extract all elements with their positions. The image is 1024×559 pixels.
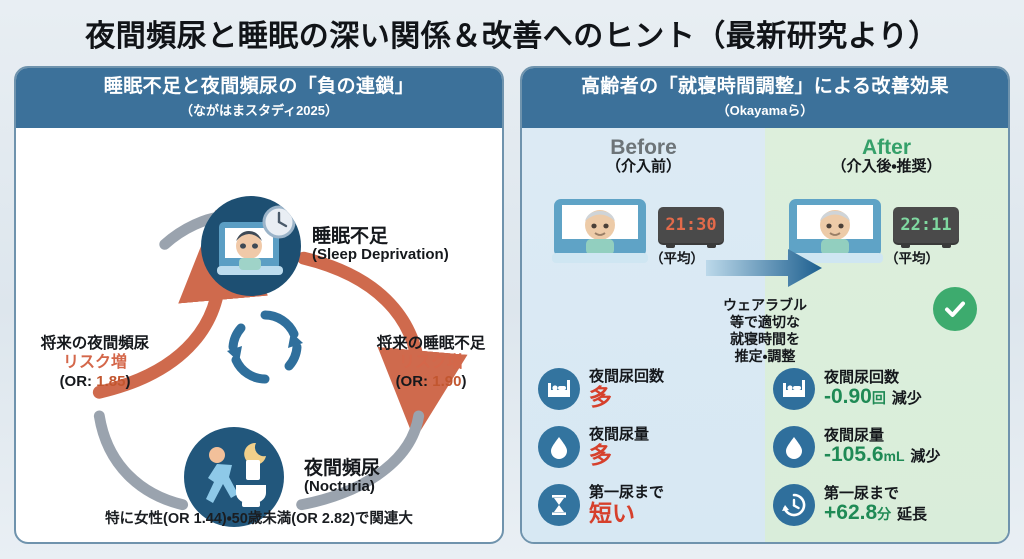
risk-right-line2: リスク増 [356,353,504,372]
risk-left-or-suffix: ) [125,373,130,390]
before-metric-label-frequency: 夜間尿回数 [589,369,664,385]
before-metric-value-volume: 多 [589,443,649,467]
right-panel-bedtime-adjustment: 高齢者の「就寝時間調整」による改善効果 （Okayamaら） Before （介… [520,66,1010,544]
after-metric-suffix-volume: 減少 [910,448,940,465]
nocturia-label-en: (Nocturia) [304,479,380,496]
right-panel-body: Before （介入前） [522,128,1008,542]
elderly-person-in-bed-icon [548,185,652,277]
after-scene: 22:11 （平均） [765,179,1008,291]
before-scene: 21:30 （平均） [522,179,765,291]
before-clock-caption: （平均） [650,247,704,267]
after-title-en: After [765,136,1008,159]
risk-left-or-value: 1.85 [96,373,125,390]
before-metric-label-first-void: 第一尿まで [589,485,664,501]
risk-right-or-value: 1.90 [432,373,461,390]
after-metric-suffix-first-void: 延長 [897,506,927,523]
page-title: 夜間頻尿と睡眠の深い関係＆改善へのヒント（最新研究より） [85,11,938,55]
node-sleep-deprivation-label: 睡眠不足 (Sleep Deprivation) [312,226,449,264]
before-clock-time: 21:30 [665,215,716,235]
before-heading: Before （介入前） [522,128,765,176]
cycle-refresh-icon [221,303,309,391]
before-metric-row-frequency: 夜間尿回数 多 [522,360,765,418]
risk-right-or: (OR: 1.90) [356,373,504,391]
before-metric-value-frequency: 多 [589,385,664,409]
after-metric-label-first-void: 第一尿まで [824,486,927,502]
risk-left-or-prefix: (OR: [60,373,97,390]
node-nocturia-label: 夜間頻尿 (Nocturia) [304,458,380,496]
risk-label-future-sleep-deprivation: 将来の睡眠不足 リスク増 (OR: 1.90) [356,335,504,391]
check-circle-icon [933,287,977,331]
nocturia-label-jp: 夜間頻尿 [304,458,380,479]
after-column: After （介入後・推奨） [765,128,1008,542]
bed-icon [538,368,580,410]
risk-left-line2: リスク増 [20,353,170,372]
left-panel-subtitle: （ながはまスタディ2025） [22,100,496,119]
after-metric-value-volume: -105.6 [824,443,884,466]
after-metric-value-first-void: +62.8 [824,501,877,524]
vicious-cycle-diagram: 睡眠不足 (Sleep Deprivation) [16,128,502,542]
risk-right-or-suffix: ) [461,373,466,390]
left-panel-footnote: 特に女性(OR 1.44)・50歳未満(OR 2.82)で関連大 [16,507,502,528]
cycle-connector-left [99,416,182,505]
after-clock: 22:11 [893,207,959,243]
left-panel-header: 睡眠不足と夜間頻尿の「負の連鎖」 （ながはまスタディ2025） [16,68,502,128]
title-bar: 夜間頻尿と睡眠の深い関係＆改善へのヒント（最新研究より） [0,0,1024,66]
elderly-person-in-bed-icon [783,185,887,277]
left-panel-body: 睡眠不足 (Sleep Deprivation) [16,128,502,542]
risk-right-line1: 将来の睡眠不足 [356,335,504,354]
before-metric-row-first-void: 第一尿まで 短い [522,476,765,534]
before-metrics-list: 夜間尿回数 多 夜間尿量 [522,360,765,534]
risk-left-line1: 将来の夜間頻尿 [20,335,170,354]
person-in-bed-clock-icon [201,196,301,296]
sleep-label-en: (Sleep Deprivation) [312,247,449,264]
node-sleep-deprivation [201,196,301,296]
before-title-jp: （介入前） [522,159,765,176]
after-metric-unit-volume: mL [884,448,905,464]
water-drop-icon [538,426,580,468]
before-metric-label-volume: 夜間尿量 [589,427,649,443]
panels-container: 睡眠不足と夜間頻尿の「負の連鎖」 （ながはまスタディ2025） [0,66,1024,544]
sleep-label-jp: 睡眠不足 [312,226,449,247]
after-metric-label-volume: 夜間尿量 [824,428,940,444]
before-clock: 21:30 [658,207,724,243]
after-metric-value-frequency: -0.90 [824,385,872,408]
right-panel-subtitle: （Okayamaら） [528,100,1002,119]
after-metric-unit-frequency: 回 [872,390,886,406]
after-metric-row-frequency: 夜間尿回数 -0.90回 減少 [765,360,1008,418]
left-panel-title: 睡眠不足と夜間頻尿の「負の連鎖」 [22,76,496,98]
clock-arrow-icon [773,484,815,526]
risk-label-future-nocturia: 将来の夜間頻尿 リスク増 (OR: 1.85) [20,335,170,391]
after-metric-row-first-void: 第一尿まで +62.8分 延長 [765,476,1008,534]
before-column: Before （介入前） [522,128,765,542]
water-drop-icon [773,426,815,468]
hourglass-icon [538,484,580,526]
before-after-comparison: Before （介入前） [522,128,1008,542]
after-heading: After （介入後・推奨） [765,128,1008,176]
before-metric-value-first-void: 短い [589,501,664,525]
after-metric-unit-first-void: 分 [877,506,891,522]
after-metric-suffix-frequency: 減少 [892,390,922,407]
after-clock-caption: （平均） [885,247,939,267]
bed-icon [773,368,815,410]
right-panel-title: 高齢者の「就寝時間調整」による改善効果 [528,76,1002,98]
before-metric-row-volume: 夜間尿量 多 [522,418,765,476]
right-panel-header: 高齢者の「就寝時間調整」による改善効果 （Okayamaら） [522,68,1008,128]
before-title-en: Before [522,136,765,159]
after-metric-label-frequency: 夜間尿回数 [824,370,922,386]
risk-left-or: (OR: 1.85) [20,373,170,391]
after-metric-row-volume: 夜間尿量 -105.6mL 減少 [765,418,1008,476]
left-panel-vicious-cycle: 睡眠不足と夜間頻尿の「負の連鎖」 （ながはまスタディ2025） [14,66,504,544]
after-title-jp: （介入後・推奨） [765,159,1008,176]
risk-right-or-prefix: (OR: [396,373,433,390]
after-clock-time: 22:11 [900,215,951,235]
after-metrics-list: 夜間尿回数 -0.90回 減少 夜間尿量 [765,360,1008,534]
